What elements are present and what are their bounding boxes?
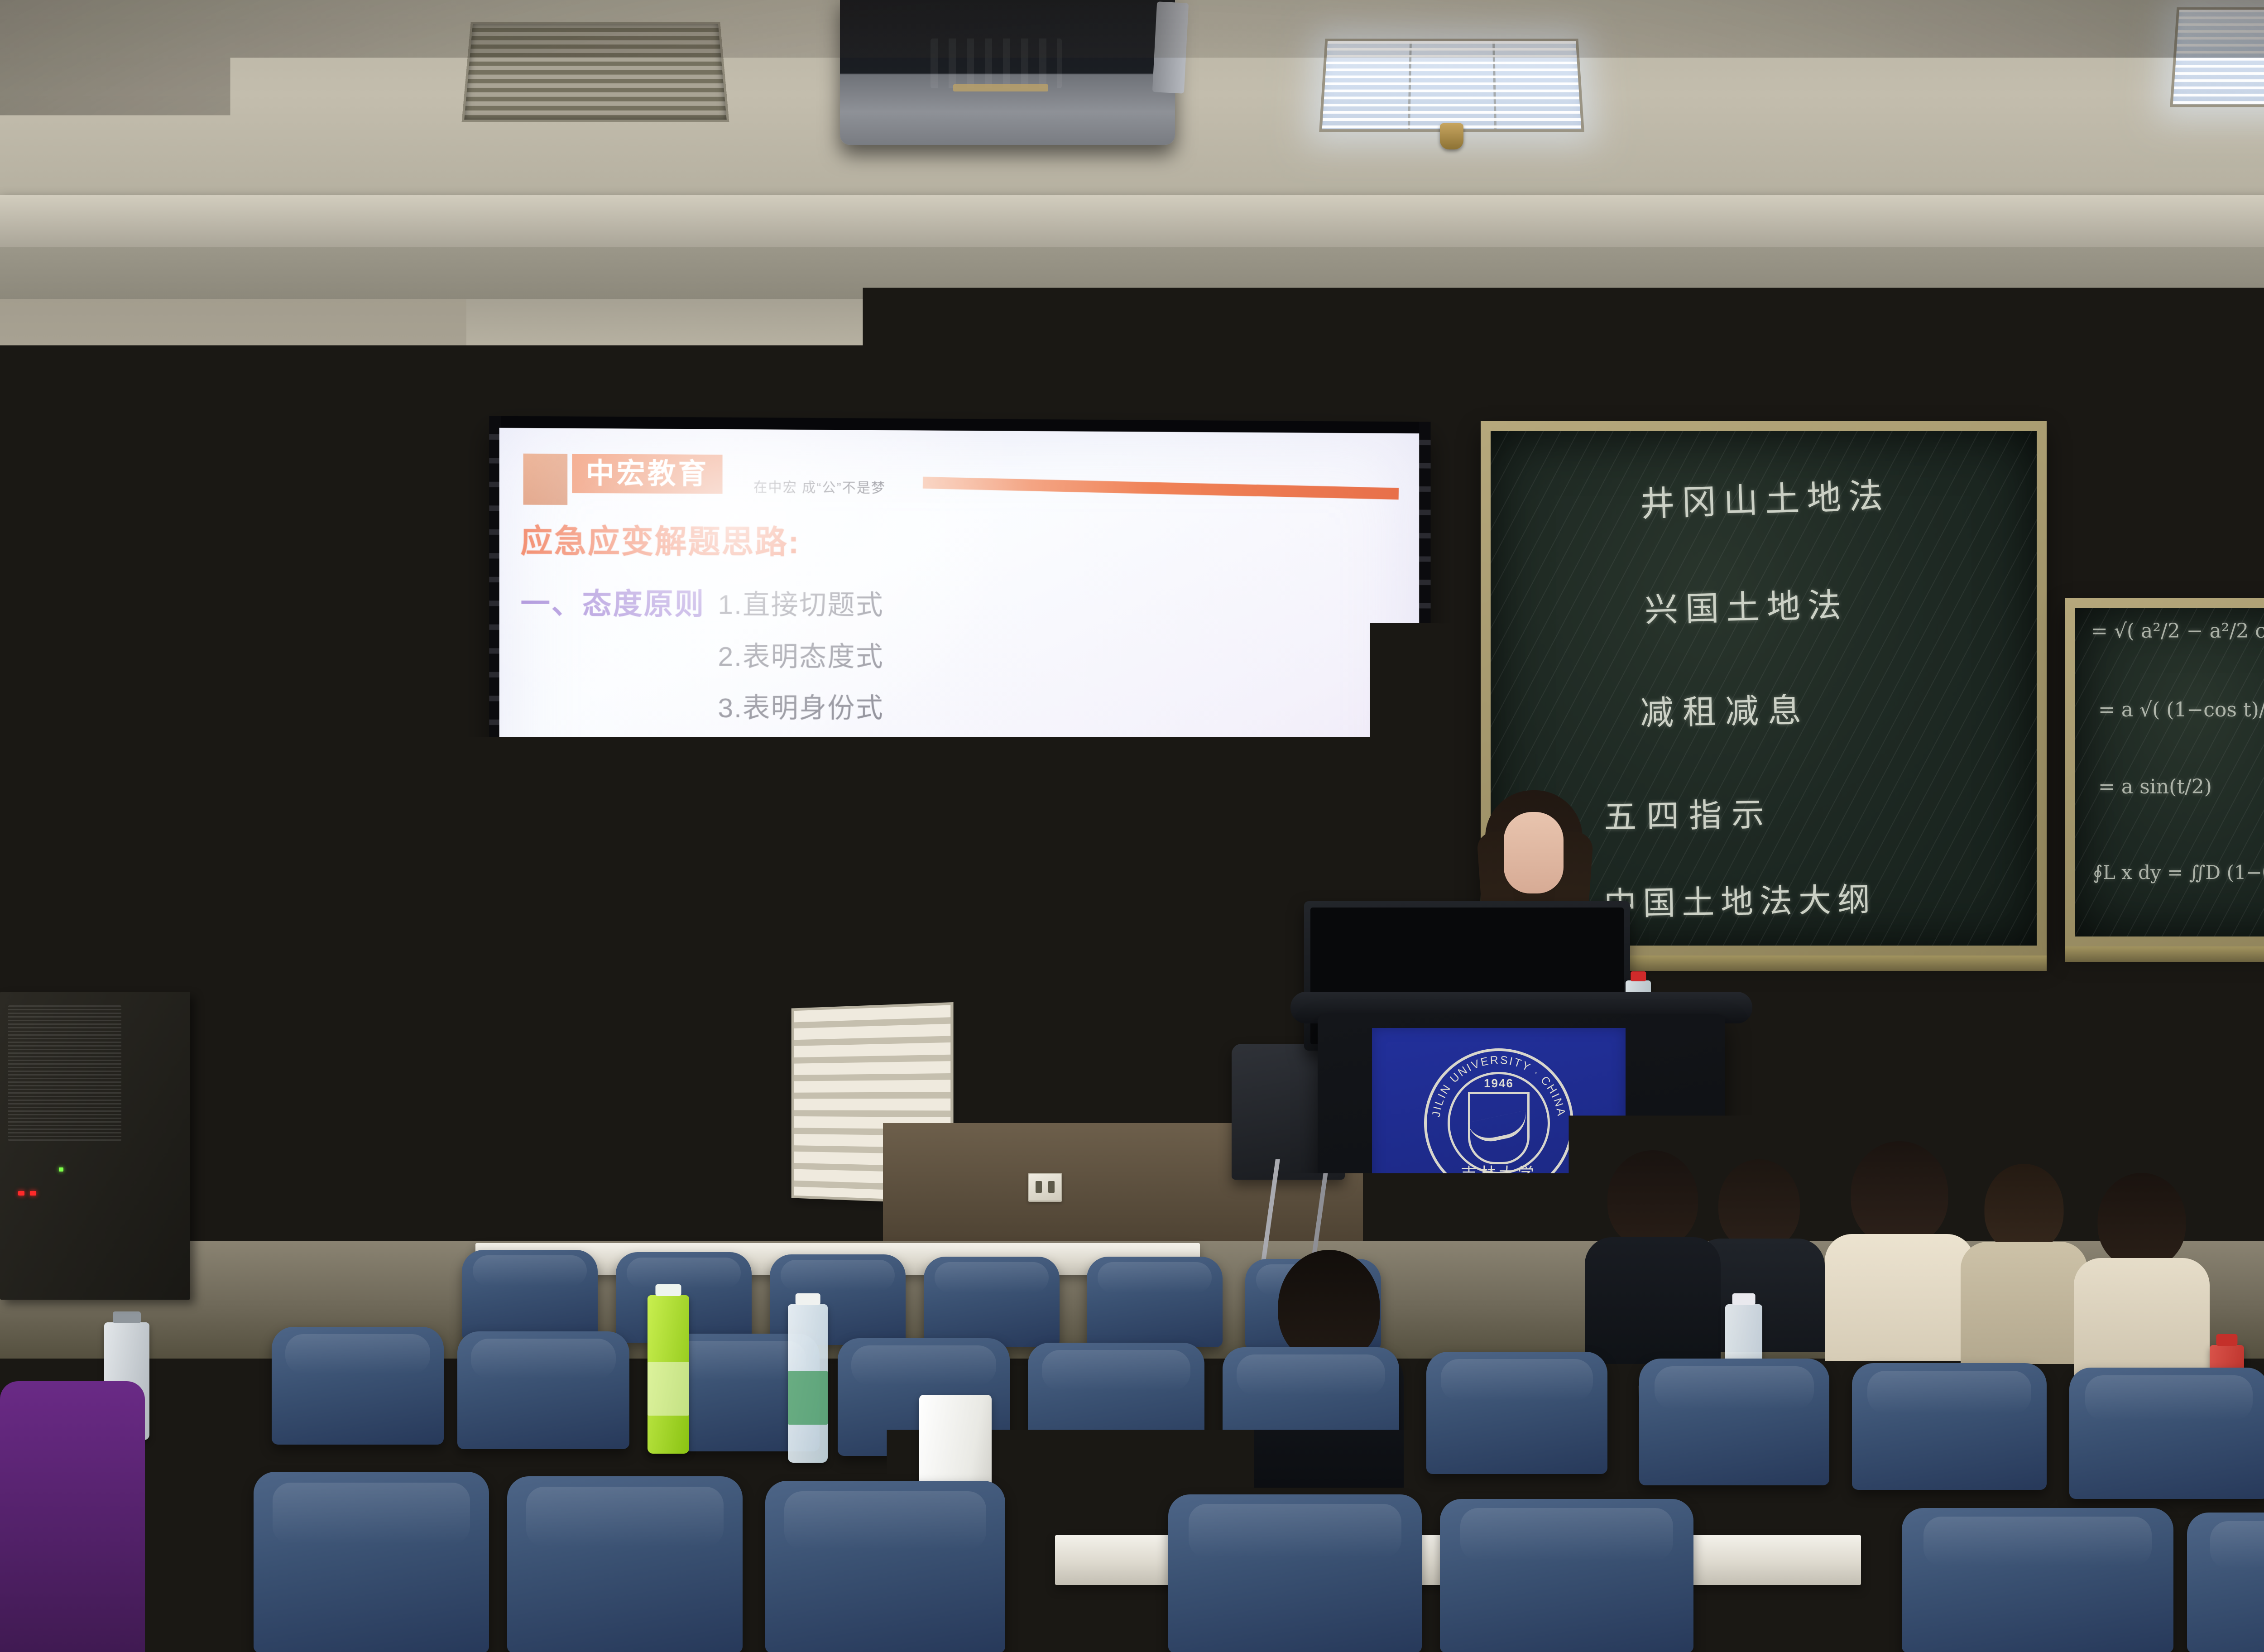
student [2074,1173,2210,1372]
seat[interactable] [457,1331,629,1449]
student [1961,1164,2087,1359]
student [1585,1150,1721,1354]
slide-row-subitem: 1.单一矛盾 [718,739,855,779]
presentation-slide: 中宏教育 在中宏 成“公”不是梦 应急应变解题思路: 一、态度原则 1.直接切题… [499,428,1419,1022]
clock-time-readout: 15 14 39 [86,519,357,579]
seat[interactable] [462,1250,598,1340]
wall-socket-left[interactable] [711,1159,745,1189]
seat[interactable] [2069,1368,2264,1499]
seat[interactable] [254,1472,489,1652]
electrical-box-4[interactable]: ⚡ 小心有电 [367,847,457,924]
projection-screen: 中宏教育 在中宏 成“公”不是梦 应急应变解题思路: 一、态度原则 1.直接切题… [499,428,1419,1022]
slide-row-heading: 二、解决问题 [521,737,718,779]
wall-speaker [383,435,471,534]
chalk-line-5: 中国土地法大纲 [1603,873,1877,925]
seal-chinese-name: 吉林大学 [1461,1161,1537,1184]
seat[interactable] [1902,1508,2173,1652]
seat[interactable] [1087,1257,1223,1347]
electrical-meter-box [145,747,204,851]
seat[interactable] [1168,1494,1422,1652]
electric-warning-label-2: ⚡ 小心有电 [383,775,444,799]
math-blackboard: = √( a²/2 − a²/2 cos t ) = a √( (1−cos t… [2065,598,2264,946]
bolt-icon: ⚡ [221,778,228,790]
wall-socket-mid[interactable] [1028,1173,1062,1202]
warning-text: 小心有电 [182,888,220,905]
brand-tagline: 在中宏 成“公”不是梦 [753,476,886,497]
electrical-box-3[interactable]: ⚡ 小心有电 [163,842,276,915]
chalk-line-2: 兴国土地法 [1644,578,1849,632]
electric-warning-label-1: ⚡ 小心有电 [216,771,277,796]
green-tea-bottle [648,1295,689,1454]
slide-row-final: 三、惩前毖后（反思总结） [521,841,1399,885]
clock-minutes: 14 [192,521,250,577]
slide-row: 2.多个矛盾 [521,790,1399,831]
clock-date-readout: 2023年04月15日 星期6 · 农历 2月25日 [86,576,357,603]
math-line-1: = √( a²/2 − a²/2 cos t ) [2091,619,2264,643]
electrical-box-2[interactable]: ⚡ 小心有电 [362,691,453,813]
seat[interactable] [507,1476,743,1652]
ceiling-light-fixture-right [2170,7,2264,107]
seat[interactable] [1639,1359,1829,1485]
seal-founding-year: 1946 [1484,1076,1514,1090]
student-foreground-left [0,1381,145,1652]
ceiling-beam [0,195,2264,249]
logo-accent-block [523,454,568,505]
blackboard-surface-math: = √( a²/2 − a²/2 cos t ) = a √( (1−cos t… [2075,608,2264,936]
chalk-tray-math [2065,946,2264,962]
clock-seconds: 39 [274,519,333,575]
header-accent-bar [923,477,1399,499]
seat[interactable] [1426,1352,1607,1474]
bolt-icon: ⚡ [173,893,180,905]
slide-row-subitem: 2.表明态度式 [718,634,883,674]
bolt-icon: ⚡ [388,897,395,909]
brand-logo: 中宏教育 [572,454,722,494]
clear-water-bottle-2 [788,1304,828,1463]
slide-row: 3.表明身份式 [521,686,1399,725]
seat[interactable] [765,1481,1005,1652]
warning-text: 小心有电 [230,776,272,791]
chalk-line-3: 减租减息 [1640,683,1811,735]
screen-hook-rod-2 [2244,385,2250,453]
screen-roller-hook-2 [2232,367,2261,387]
led-wall-clock: 15 14 39 2023年04月15日 星期6 · 农历 2月25日 [84,511,359,611]
equipment-rack [0,992,190,1300]
slide-body: 一、态度原则 1.直接切题式 2.表明态度式 3.表明身份式 二、解决问题 1.… [521,580,1399,885]
warning-text: 小心有电 [397,779,439,795]
university-seal: JILIN UNIVERSITY · CHINA 1946 吉林大学 [1424,1048,1573,1198]
math-line-2: = a √( (1−cos t)/2 ) [2098,698,2264,721]
projector-mount-arm [1152,1,1189,93]
seat[interactable] [1223,1347,1399,1467]
screen-hook-rod-1 [2108,389,2114,457]
seat[interactable] [1440,1499,1693,1652]
lecture-hall-photo: 15 14 39 2023年04月15日 星期6 · 农历 2月25日 ⚡ 小心… [0,0,2264,1652]
slide-row-subitem: 3.表明身份式 [718,686,883,725]
warning-text: 小心有电 [397,895,438,911]
slide-row-subitem: 1.直接切题式 [718,582,883,622]
seat[interactable] [924,1257,1060,1347]
slide-header: 中宏教育 在中宏 成“公”不是梦 [521,442,1399,515]
ceiling-projector [840,0,1175,145]
slide-title: 应急应变解题思路: [521,516,1399,565]
presenter-face [1504,812,1564,893]
slide-row: 2.表明态度式 [521,634,1399,675]
seat[interactable] [1028,1343,1204,1463]
electric-warning-label-4: ⚡ 小心有电 [382,890,444,916]
seat[interactable] [2187,1513,2264,1652]
slide-row: 二、解决问题 1.单一矛盾 [521,737,1399,779]
projection-screen-frame: 中宏教育 在中宏 成“公”不是梦 应急应变解题思路: 一、态度原则 1.直接切题… [489,416,1430,1037]
slide-final-line: 三、惩前毖后（反思总结） [521,842,888,885]
slide-row-heading: 一、态度原则 [521,580,718,623]
math-line-3: = a sin(t/2) [2098,775,2212,798]
ceiling-light-fixture [1319,38,1584,132]
student [1825,1141,1974,1354]
seat[interactable] [1852,1363,2047,1490]
ac-vent-icon [462,22,729,122]
slide-row-subitem: 2.多个矛盾 [718,791,855,831]
math-line-4: ∮L x dy = ∬D (1−0) dx dy [2093,861,2264,884]
chalk-line-4: 五四指示 [1603,788,1775,838]
chalk-line-1: 井冈山土地法 [1639,467,1891,526]
slide-row: 一、态度原则 1.直接切题式 [521,580,1399,624]
electrical-box-1[interactable]: ⚡ 小心有电 [195,688,292,811]
screen-roller-hook-1 [2096,371,2125,391]
sprinkler-head-icon [1440,123,1463,149]
seat[interactable] [272,1327,444,1445]
clock-hours: 15 [110,522,168,578]
bolt-icon: ⚡ [388,781,395,793]
